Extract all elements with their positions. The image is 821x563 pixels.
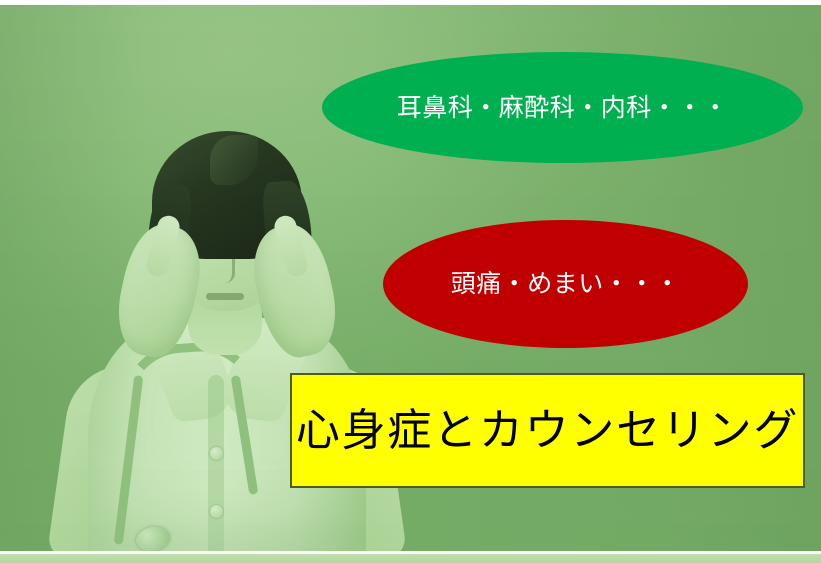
mouth [206, 293, 244, 300]
bottom-green-strip [0, 554, 821, 563]
callout-specialties-text: 耳鼻科・麻酔科・内科・・・ [397, 93, 729, 123]
callout-ellipse-specialties: 耳鼻科・麻酔科・内科・・・ [322, 52, 803, 163]
top-white-strip [0, 0, 821, 5]
callout-symptoms-text: 頭痛・めまい・・・ [451, 269, 681, 299]
slide-title: 心身症とカウンセリング [296, 409, 799, 453]
stethoscope-neck-loop [119, 338, 272, 551]
callout-ellipse-symptoms: 頭痛・めまい・・・ [383, 220, 748, 348]
slide-canvas: 耳鼻科・麻酔科・内科・・・ 頭痛・めまい・・・ 心身症とカウンセリング [0, 0, 821, 563]
title-banner: 心身症とカウンセリング [290, 373, 805, 488]
